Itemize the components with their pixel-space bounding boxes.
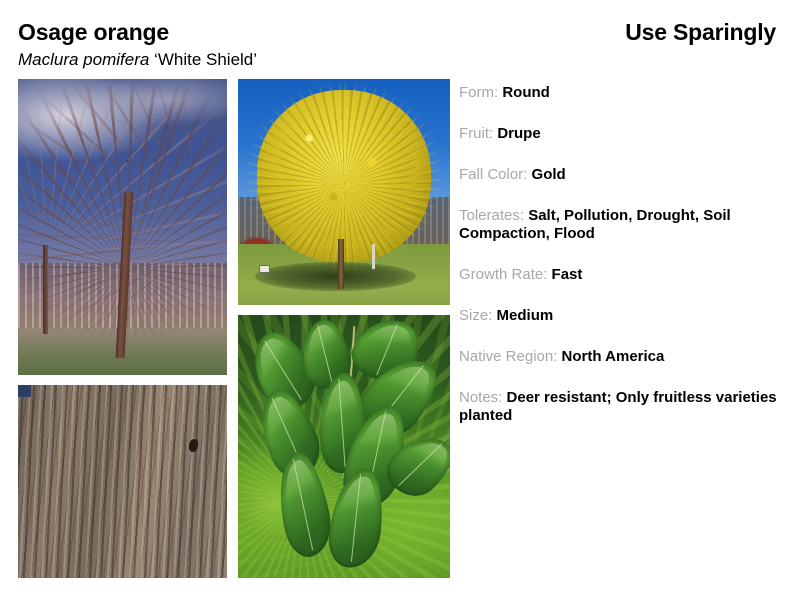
- attribute-row-growth-rate: Growth Rate: Fast: [459, 266, 777, 284]
- plant-label-sign: [259, 265, 270, 273]
- use-rating-badge: Use Sparingly: [625, 19, 776, 45]
- attribute-row-fall-color: Fall Color: Gold: [459, 166, 777, 184]
- leaf-midrib: [338, 379, 345, 467]
- fall-color-photo: [238, 79, 450, 305]
- page-header: Osage orange Use Sparingly Maclura pomif…: [0, 0, 792, 79]
- attribute-label: Growth Rate:: [459, 266, 547, 283]
- attribute-value: North America: [557, 348, 664, 365]
- bark-corner-sky: [18, 385, 31, 397]
- attribute-row-size: Size: Medium: [459, 307, 777, 325]
- attribute-label: Fruit:: [459, 125, 493, 142]
- bark-texture: [18, 385, 227, 578]
- attribute-label: Tolerates:: [459, 207, 524, 224]
- attribute-value: Fast: [547, 266, 582, 283]
- scientific-name: Maclura pomifera ‘White Shield’: [18, 50, 257, 70]
- attribute-value: Gold: [527, 166, 565, 183]
- secondary-trunk-shape: [43, 245, 48, 334]
- trunk-shape: [338, 239, 344, 289]
- fall-color-scene: [238, 79, 450, 305]
- attribute-value: Medium: [492, 307, 553, 324]
- genus-species: Maclura pomifera: [18, 50, 149, 69]
- attribute-row-fruit: Fruit: Drupe: [459, 125, 777, 143]
- attribute-row-form: Form: Round: [459, 84, 777, 102]
- cultivar-name: ‘White Shield’: [149, 50, 257, 69]
- attribute-label: Size:: [459, 307, 492, 324]
- leaf-midrib: [352, 474, 362, 562]
- attribute-value: Round: [498, 84, 550, 101]
- attribute-row-notes: Notes: Deer resistant; Only fruitless va…: [459, 389, 777, 425]
- winter-habit-scene: [18, 79, 227, 375]
- leaf-midrib: [317, 325, 333, 384]
- attribute-label: Form:: [459, 84, 498, 101]
- winter-habit-photo: [18, 79, 227, 375]
- bark-photo: [18, 385, 227, 578]
- page-title: Osage orange: [18, 19, 169, 45]
- leaf-photo: [238, 315, 450, 578]
- attribute-label: Notes:: [459, 389, 502, 406]
- leaf-scene: [238, 315, 450, 578]
- attribute-value: Drupe: [493, 125, 541, 142]
- attribute-row-native-region: Native Region: North America: [459, 348, 777, 366]
- attribute-label: Fall Color:: [459, 166, 527, 183]
- attribute-label: Native Region:: [459, 348, 557, 365]
- attribute-list: Form: Round Fruit: Drupe Fall Color: Gol…: [459, 84, 777, 425]
- fence-post: [372, 244, 375, 269]
- bark-cavity: [189, 438, 200, 452]
- golden-crown: [257, 90, 431, 262]
- leaf-midrib: [294, 459, 314, 550]
- attribute-row-tolerates: Tolerates: Salt, Pollution, Drought, Soi…: [459, 207, 777, 243]
- attribute-value: Deer resistant; Only fruitless varieties…: [459, 389, 777, 424]
- leaf-midrib: [398, 444, 442, 487]
